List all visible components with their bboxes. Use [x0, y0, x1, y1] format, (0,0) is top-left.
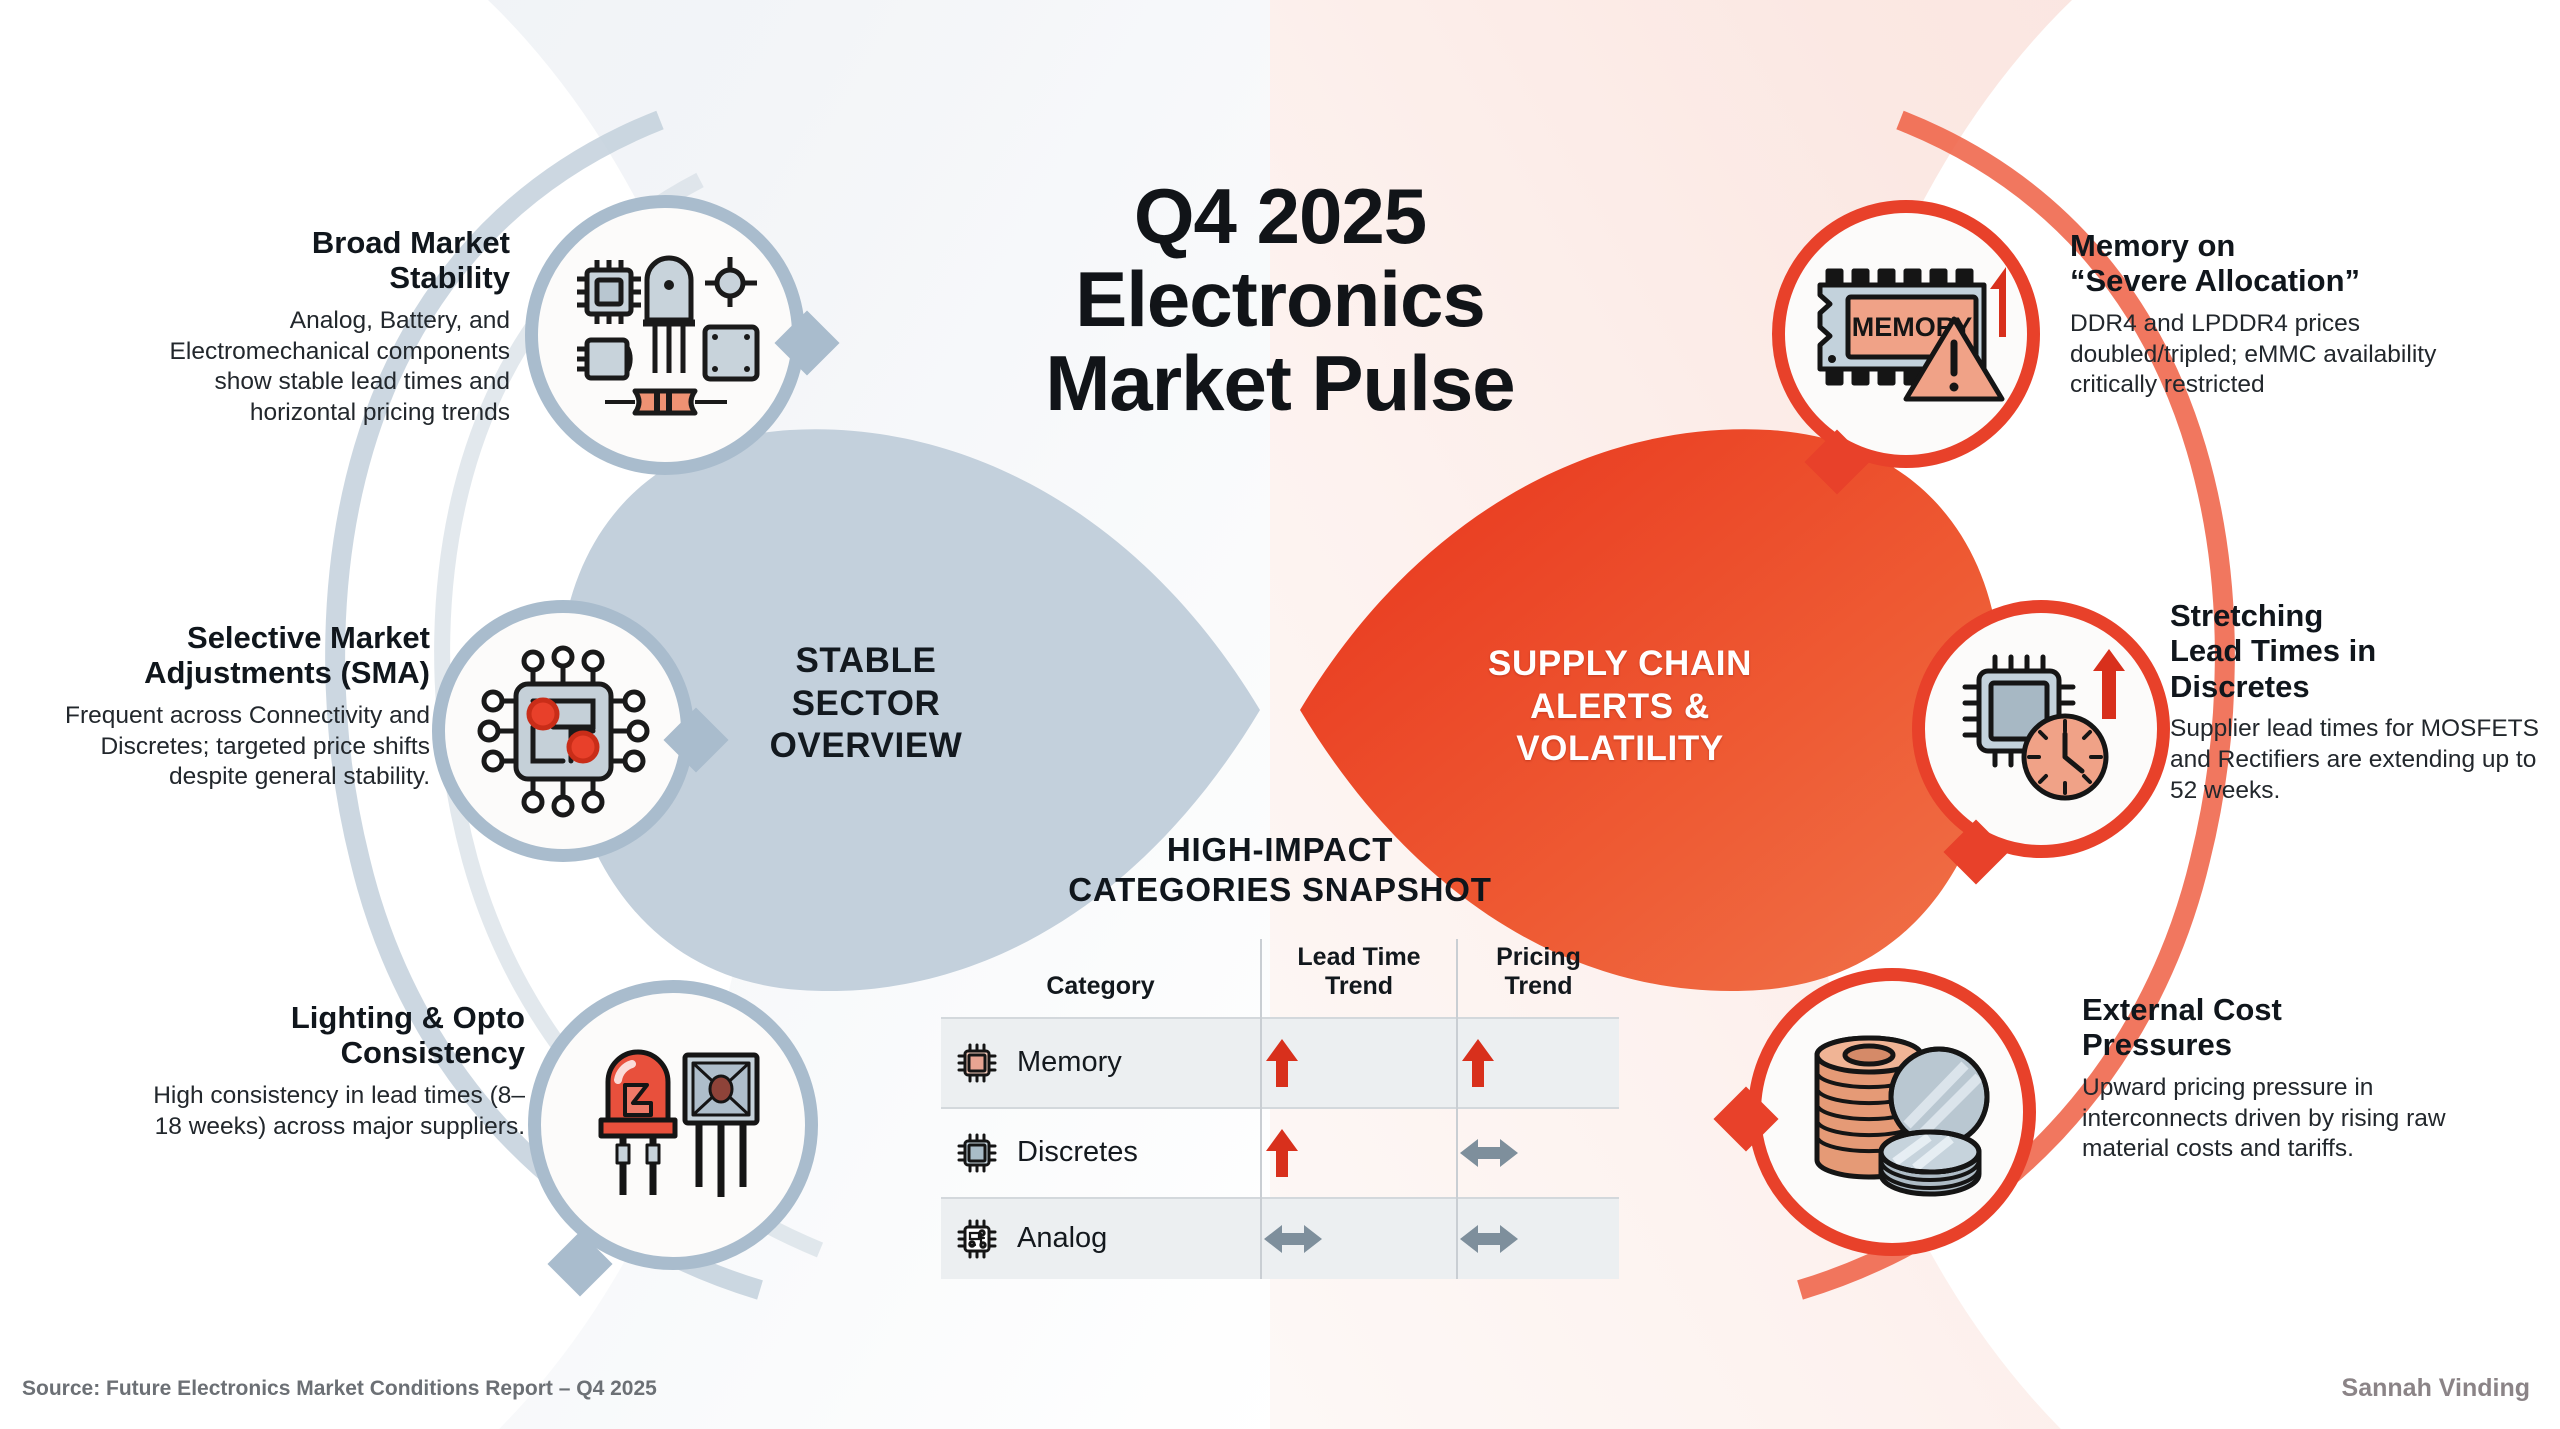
right-item-2-body: Supplier lead times for MOSFETS and Rect… [2170, 714, 2560, 807]
left-item-3-heading: Lighting & OptoConsistency [145, 1000, 525, 1071]
left-item-1-heading: Broad MarketStability [110, 225, 510, 296]
table-row: Discretes [941, 1108, 1619, 1198]
right-item-stretching-lead-times: StretchingLead Times inDiscretes Supplie… [2170, 598, 2560, 807]
led-optocoupler-icon [573, 1025, 773, 1225]
snapshot-title: HIGH-IMPACTCATEGORIES SNAPSHOT [930, 830, 1630, 909]
bubble-chip-clock[interactable] [1912, 600, 2170, 858]
column-header-pricing: PricingTrend [1457, 939, 1619, 1018]
right-item-2-heading: StretchingLead Times inDiscretes [2170, 598, 2560, 704]
memory-chip-alert-icon: MEMORY [1806, 259, 2006, 409]
bubble-raw-materials[interactable] [1748, 968, 2036, 1256]
left-item-broad-market-stability: Broad MarketStability Analog, Battery, a… [110, 225, 510, 429]
page-title: Q4 2025 Electronics Market Pulse [930, 175, 1630, 425]
table-header-row: Category Lead TimeTrend PricingTrend [941, 939, 1619, 1018]
right-item-1-body: DDR4 and LPDDR4 prices doubled/tripled; … [2070, 309, 2520, 402]
arrow-left-right-icon [1458, 1135, 1520, 1171]
cell-lead-time-analog [1261, 1198, 1457, 1279]
cell-category-analog: Analog [1017, 1222, 1107, 1255]
cell-lead-time-memory [1261, 1018, 1457, 1108]
right-item-memory-severe-allocation: Memory on“Severe Allocation” DDR4 and LP… [2070, 228, 2520, 401]
right-item-3-heading: External CostPressures [2082, 992, 2492, 1063]
passive-components-icon [565, 245, 765, 425]
bubble-circuit-hotspots[interactable] [432, 600, 694, 862]
arrow-left-right-icon [1458, 1221, 1520, 1257]
stable-sector-label: STABLESECTOROVERVIEW [716, 640, 1016, 768]
source-note: Source: Future Electronics Market Condit… [22, 1377, 657, 1401]
table-row: Analog [941, 1198, 1619, 1279]
snapshot-table: Category Lead TimeTrend PricingTrend [941, 939, 1619, 1279]
left-item-2-heading: Selective MarketAdjustments (SMA) [30, 620, 430, 691]
arrow-left-right-icon [1262, 1221, 1324, 1257]
chip-clock-icon [1949, 647, 2134, 812]
arrow-up-icon [1262, 1037, 1302, 1089]
copper-spool-metal-discs-icon [1787, 1017, 1997, 1207]
analog-chip-icon [955, 1217, 999, 1261]
cell-pricing-discretes [1457, 1108, 1619, 1198]
cell-category-discretes: Discretes [1017, 1136, 1138, 1169]
infographic-canvas: STABLESECTOROVERVIEW SUPPLY CHAINALERTS … [0, 0, 2560, 1429]
author-credit: Sannah Vinding [2342, 1374, 2530, 1403]
arrow-up-icon [1262, 1127, 1302, 1179]
column-header-lead-time: Lead TimeTrend [1261, 939, 1457, 1018]
right-item-1-heading: Memory on“Severe Allocation” [2070, 228, 2520, 299]
cell-lead-time-discretes [1261, 1108, 1457, 1198]
cell-category-memory: Memory [1017, 1046, 1122, 1079]
column-header-category: Category [941, 939, 1261, 1018]
memory-chip-icon [955, 1041, 999, 1085]
arrow-up-icon [1458, 1037, 1498, 1089]
title-line-1: Q4 2025 [930, 175, 1630, 258]
bubble-memory-alert[interactable]: MEMORY [1772, 200, 2040, 468]
bubble-passive-components[interactable] [525, 195, 805, 475]
title-line-3: Market Pulse [930, 342, 1630, 425]
left-item-selective-market-adjustments: Selective MarketAdjustments (SMA) Freque… [30, 620, 430, 793]
circuit-board-hotspots-icon [471, 639, 656, 824]
title-line-2: Electronics [930, 258, 1630, 341]
left-item-3-body: High consistency in lead times (8–18 wee… [145, 1081, 525, 1143]
cell-pricing-memory [1457, 1018, 1619, 1108]
discrete-chip-icon [955, 1131, 999, 1175]
right-item-3-body: Upward pricing pressure in interconnects… [2082, 1073, 2492, 1166]
right-item-external-cost-pressures: External CostPressures Upward pricing pr… [2082, 992, 2492, 1165]
high-impact-categories-snapshot: HIGH-IMPACTCATEGORIES SNAPSHOT Category … [930, 830, 1630, 1279]
supply-chain-label: SUPPLY CHAINALERTS &VOLATILITY [1450, 643, 1790, 771]
left-item-lighting-opto-consistency: Lighting & OptoConsistency High consiste… [145, 1000, 525, 1142]
table-row: Memory [941, 1018, 1619, 1108]
left-item-2-body: Frequent across Connectivity and Discret… [30, 701, 430, 794]
bubble-led-optocoupler[interactable] [528, 980, 818, 1270]
cell-pricing-analog [1457, 1198, 1619, 1279]
left-item-1-body: Analog, Battery, and Electromechanical c… [110, 306, 510, 429]
